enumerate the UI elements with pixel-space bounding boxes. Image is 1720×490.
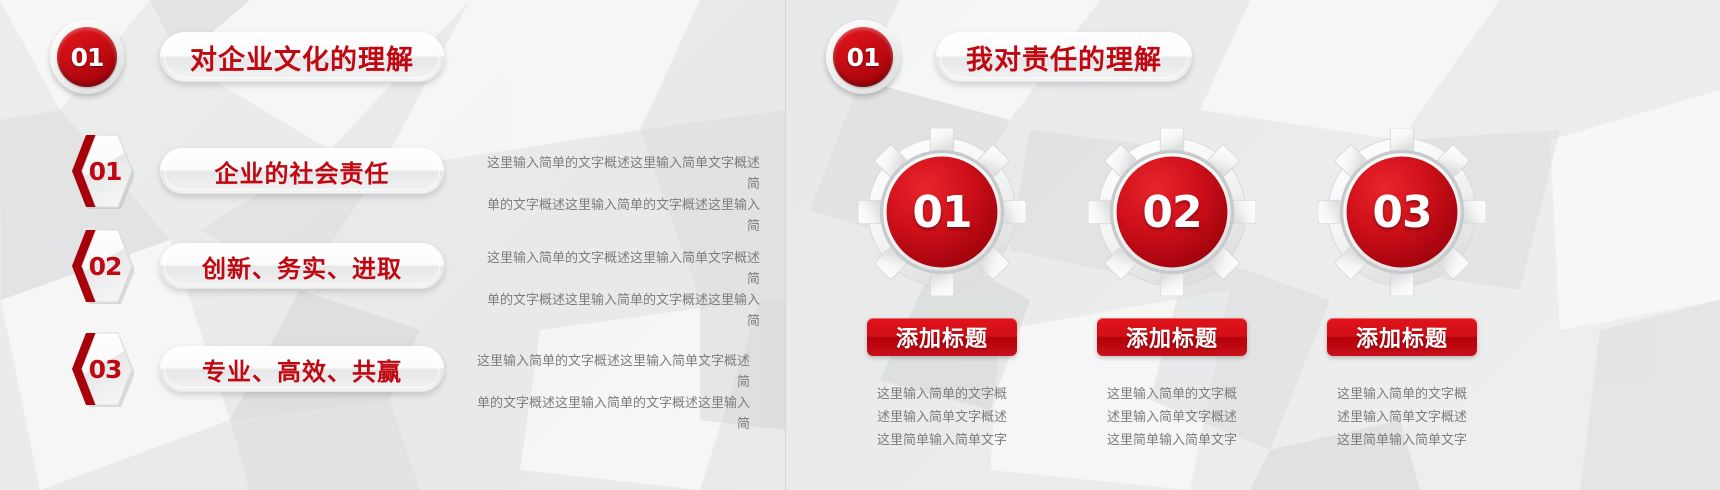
- left-row-3-paragraph: 这里输入简单的文字概述这里输入简单文字概述简 单的文字概述这里输入简单的文字概述…: [472, 350, 750, 434]
- caption-3-line1: 这里输入简单的文字概: [1307, 382, 1497, 405]
- left-row-1-para-line1: 这里输入简单的文字概述这里输入简单文字概述简: [482, 152, 760, 194]
- right-column-2-caption: 这里输入简单的文字概 述里输入简单文字概述 这里简单输入简单文字: [1077, 382, 1267, 451]
- add-title-button-3[interactable]: 添加标题: [1327, 318, 1477, 356]
- left-row-1-pill[interactable]: 企业的社会责任: [160, 148, 444, 194]
- gear-icon-2: 02: [1088, 128, 1256, 296]
- caption-2-line1: 这里输入简单的文字概: [1077, 382, 1267, 405]
- left-row-3-para-line1: 这里输入简单的文字概述这里输入简单文字概述简: [472, 350, 750, 392]
- caption-3-line3: 这里简单输入简单文字: [1307, 428, 1497, 451]
- gear-icon-3: 03: [1318, 128, 1486, 296]
- caption-1-line3: 这里简单输入简单文字: [847, 428, 1037, 451]
- left-row-1-paragraph: 这里输入简单的文字概述这里输入简单文字概述简 单的文字概述这里输入简单的文字概述…: [482, 152, 760, 236]
- right-column-1-caption: 这里输入简单的文字概 述里输入简单文字概述 这里简单输入简单文字: [847, 382, 1037, 451]
- right-header-number: 01: [847, 43, 880, 72]
- left-row-3-para-line2: 单的文字概述这里输入简单的文字概述这里输入简: [472, 392, 750, 434]
- caption-1-line1: 这里输入简单的文字概: [847, 382, 1037, 405]
- left-header-title: 对企业文化的理解: [190, 38, 414, 77]
- left-row-2-para-line2: 单的文字概述这里输入简单的文字概述这里输入简: [482, 289, 760, 331]
- hexagon-badge-1: 01: [62, 131, 134, 211]
- left-header: 01 对企业文化的理解: [50, 20, 444, 94]
- add-title-button-2[interactable]: 添加标题: [1097, 318, 1247, 356]
- gear-number-3: 03: [1318, 128, 1486, 296]
- right-header-number-badge: 01: [826, 20, 900, 94]
- left-header-number-badge: 01: [50, 20, 124, 94]
- right-header: 01 我对责任的理解: [826, 20, 1192, 94]
- gear-icon-1: 01: [858, 128, 1026, 296]
- left-row-2-paragraph: 这里输入简单的文字概述这里输入简单文字概述简 单的文字概述这里输入简单的文字概述…: [482, 247, 760, 331]
- left-row-3: 03 专业、高效、共赢: [62, 329, 444, 409]
- hexagon-number-2: 02: [62, 226, 134, 306]
- caption-2-line2: 述里输入简单文字概述: [1077, 405, 1267, 428]
- slides-canvas: 01 对企业文化的理解: [0, 0, 1720, 490]
- caption-2-line3: 这里简单输入简单文字: [1077, 428, 1267, 451]
- left-header-pill[interactable]: 对企业文化的理解: [160, 32, 444, 82]
- left-row-3-label: 专业、高效、共赢: [202, 352, 402, 387]
- hexagon-badge-2: 02: [62, 226, 134, 306]
- hexagon-badge-3: 03: [62, 329, 134, 409]
- right-header-title: 我对责任的理解: [966, 38, 1162, 77]
- slide-panel-right: 01 我对责任的理解: [786, 0, 1720, 490]
- hexagon-number-3: 03: [62, 329, 134, 409]
- left-row-1-label: 企业的社会责任: [215, 154, 390, 189]
- right-column-3: 03 添加标题 这里输入简单的文字概 述里输入简单文字概述 这里简单输入简单文字: [1302, 128, 1502, 451]
- right-header-pill[interactable]: 我对责任的理解: [936, 32, 1192, 82]
- right-column-2: 02 添加标题 这里输入简单的文字概 述里输入简单文字概述 这里简单输入简单文字: [1072, 128, 1272, 451]
- left-row-1: 01 企业的社会责任: [62, 131, 444, 211]
- caption-1-line2: 述里输入简单文字概述: [847, 405, 1037, 428]
- caption-3-line2: 述里输入简单文字概述: [1307, 405, 1497, 428]
- add-title-button-1[interactable]: 添加标题: [867, 318, 1017, 356]
- right-column-3-caption: 这里输入简单的文字概 述里输入简单文字概述 这里简单输入简单文字: [1307, 382, 1497, 451]
- left-row-2: 02 创新、务实、进取: [62, 226, 444, 306]
- left-header-number: 01: [71, 43, 104, 72]
- gear-number-1: 01: [858, 128, 1026, 296]
- slide-panel-left: 01 对企业文化的理解: [0, 0, 785, 490]
- left-row-2-label: 创新、务实、进取: [202, 249, 402, 284]
- right-column-1: 01 添加标题 这里输入简单的文字概 述里输入简单文字概述 这里简单输入简单文字: [842, 128, 1042, 451]
- left-row-2-para-line1: 这里输入简单的文字概述这里输入简单文字概述简: [482, 247, 760, 289]
- left-row-2-pill[interactable]: 创新、务实、进取: [160, 243, 444, 289]
- left-row-1-para-line2: 单的文字概述这里输入简单的文字概述这里输入简: [482, 194, 760, 236]
- hexagon-number-1: 01: [62, 131, 134, 211]
- left-row-3-pill[interactable]: 专业、高效、共赢: [160, 346, 444, 392]
- gear-number-2: 02: [1088, 128, 1256, 296]
